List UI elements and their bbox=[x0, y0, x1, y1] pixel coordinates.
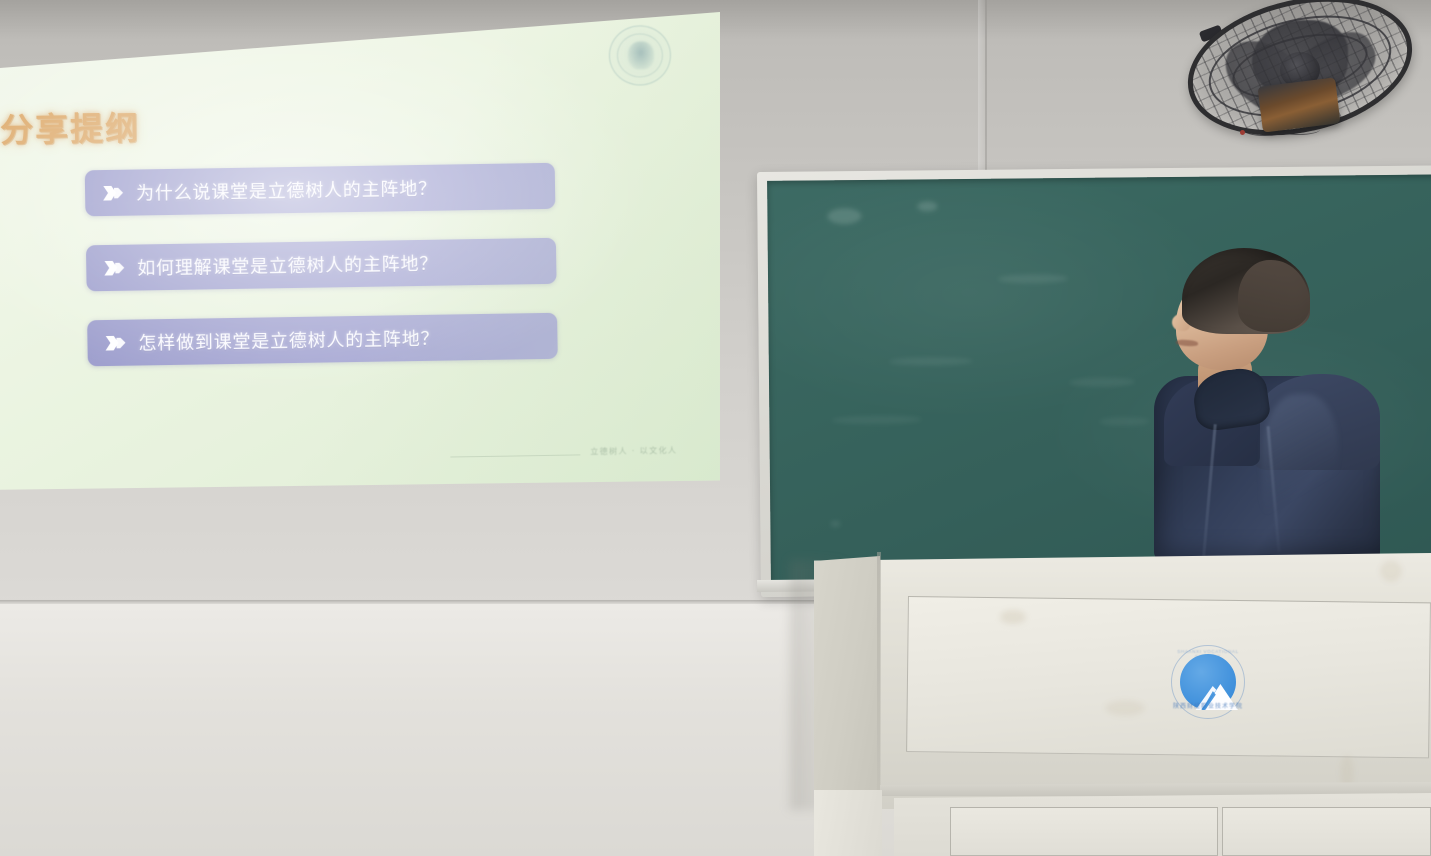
slide-bullet-text: 为什么说课堂是立德树人的主阵地？ bbox=[136, 175, 437, 206]
double-chevron-right-icon bbox=[103, 185, 125, 200]
slide-bullet-list: 为什么说课堂是立德树人的主阵地？ 如何理解课堂是立德树人的主阵地？ 怎样做到课堂… bbox=[85, 163, 559, 396]
cabinet-door-right[interactable] bbox=[1222, 807, 1431, 856]
seal-figure bbox=[628, 41, 654, 69]
wall-fan bbox=[1182, 0, 1422, 149]
podium-base-left bbox=[814, 790, 882, 856]
institution-logo: SHAANXI VOCATIONAL COLLEGE 陕西财经职业技术学院 bbox=[1171, 645, 1245, 719]
slide-footer-rule bbox=[450, 454, 580, 457]
presenter bbox=[1150, 248, 1380, 560]
slide-bullet-item: 为什么说课堂是立德树人的主阵地？ bbox=[85, 163, 556, 217]
fan-cord bbox=[1278, 124, 1320, 135]
slide-content: 分享提纲 为什么说课堂是立德树人的主阵地？ 如何理解课堂是立德树人的主阵地？ 怎… bbox=[0, 0, 724, 490]
podium-recessed-panel bbox=[906, 596, 1431, 758]
slide-footer-text: 立德树人 · 以文化人 bbox=[590, 445, 677, 457]
fan-indicator-dot bbox=[1240, 130, 1245, 135]
slide-title: 分享提纲 bbox=[0, 101, 140, 151]
slide-bullet-text: 如何理解课堂是立德树人的主阵地？ bbox=[137, 250, 438, 281]
slide-bullet-item: 怎样做到课堂是立德树人的主阵地？ bbox=[87, 313, 558, 367]
projection-screen-area: 分享提纲 为什么说课堂是立德树人的主阵地？ 如何理解课堂是立德树人的主阵地？ 怎… bbox=[0, 0, 740, 510]
podium-corner-edge bbox=[877, 552, 881, 808]
slide-bullet-text: 怎样做到课堂是立德树人的主阵地？ bbox=[138, 325, 439, 356]
double-chevron-right-icon bbox=[104, 260, 126, 275]
double-chevron-right-icon bbox=[105, 335, 127, 350]
classroom-photo-scene: SHAANXI VOCATIONAL COLLEGE 陕西财经职业技术学院 分享… bbox=[0, 0, 1431, 856]
university-seal-icon bbox=[608, 25, 671, 86]
cabinet-door-left[interactable] bbox=[950, 807, 1218, 856]
slide-bullet-item: 如何理解课堂是立德树人的主阵地？ bbox=[86, 238, 557, 292]
podium-left-side bbox=[814, 556, 880, 808]
logo-ring-text-bottom: 陕西财经职业技术学院 bbox=[1171, 701, 1245, 710]
